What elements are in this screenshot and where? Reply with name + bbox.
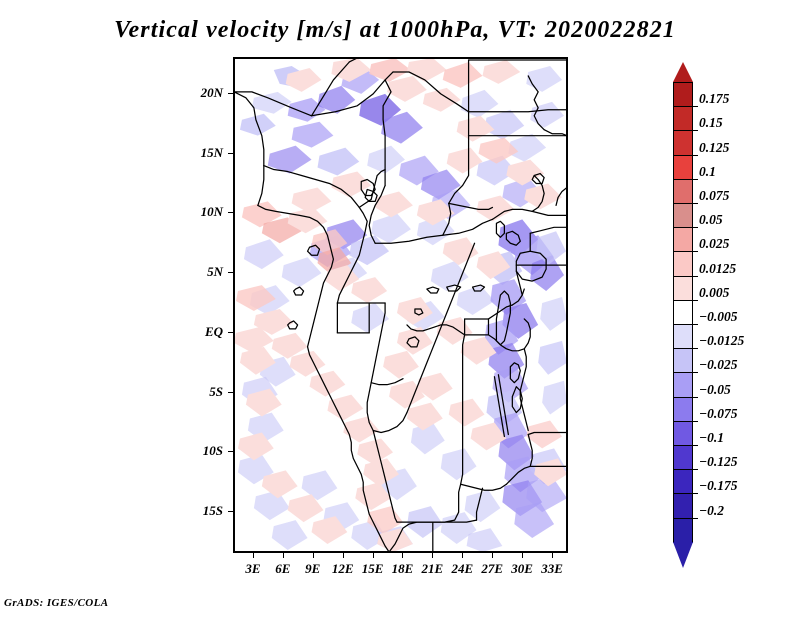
longitude-tick bbox=[373, 553, 374, 558]
latitude-label: 20N bbox=[161, 85, 223, 101]
longitude-label: 33E bbox=[532, 561, 572, 577]
longitude-tick bbox=[522, 553, 523, 558]
colorbar-segment bbox=[673, 445, 693, 471]
latitude-tick bbox=[228, 392, 233, 393]
colorbar-tick bbox=[693, 203, 698, 204]
colorbar-label: 0.15 bbox=[699, 115, 723, 131]
longitude-tick bbox=[552, 553, 553, 558]
colorbar-label: 0.175 bbox=[699, 91, 729, 107]
page-title: Vertical velocity [m/s] at 1000hPa, VT: … bbox=[0, 17, 790, 44]
colorbar-segment bbox=[673, 179, 693, 205]
colorbar-tick bbox=[693, 372, 698, 373]
colorbar-label: −0.125 bbox=[699, 454, 738, 470]
colorbar-label: −0.005 bbox=[699, 309, 738, 325]
colorbar-segment bbox=[673, 300, 693, 326]
colorbar-segment bbox=[673, 469, 693, 495]
colorbar-label: 0.125 bbox=[699, 140, 729, 156]
latitude-tick bbox=[228, 93, 233, 94]
latitude-tick bbox=[228, 153, 233, 154]
longitude-tick bbox=[432, 553, 433, 558]
colorbar-tick bbox=[693, 324, 698, 325]
colorbar-segment bbox=[673, 130, 693, 156]
colorbar-label: 0.1 bbox=[699, 164, 716, 180]
colorbar-label: 0.005 bbox=[699, 285, 729, 301]
colorbar-tick bbox=[693, 445, 698, 446]
latitude-tick bbox=[228, 272, 233, 273]
colorbar-segment bbox=[673, 276, 693, 302]
colorbar-segment bbox=[673, 155, 693, 181]
colorbar-label: −0.175 bbox=[699, 478, 738, 494]
longitude-tick bbox=[492, 553, 493, 558]
colorbar-segment bbox=[673, 518, 693, 544]
latitude-tick bbox=[228, 212, 233, 213]
latitude-label: 5S bbox=[161, 384, 223, 400]
grads-attribution: GrADS: IGES/COLA bbox=[4, 597, 109, 609]
colorbar-segment bbox=[673, 372, 693, 398]
longitude-tick bbox=[462, 553, 463, 558]
colorbar-segment bbox=[673, 493, 693, 519]
colorbar-tick bbox=[693, 421, 698, 422]
colorbar-tick bbox=[693, 348, 698, 349]
grads-plot-page: Vertical velocity [m/s] at 1000hPa, VT: … bbox=[0, 0, 800, 618]
latitude-label: 5N bbox=[161, 264, 223, 280]
colorbar-tick bbox=[693, 518, 698, 519]
colorbar-tick bbox=[693, 227, 698, 228]
colorbar-tick bbox=[693, 106, 698, 107]
latitude-tick bbox=[228, 332, 233, 333]
colorbar-tick bbox=[693, 276, 698, 277]
longitude-tick bbox=[343, 553, 344, 558]
colorbar[interactable]: 0.1750.150.1250.10.0750.050.0250.01250.0… bbox=[673, 62, 693, 562]
colorbar-label: 0.075 bbox=[699, 188, 729, 204]
colorbar-label: 0.05 bbox=[699, 212, 723, 228]
map-plot-area bbox=[233, 57, 568, 553]
colorbar-label: −0.1 bbox=[699, 430, 724, 446]
colorbar-label: 0.0125 bbox=[699, 261, 736, 277]
colorbar-tick bbox=[693, 469, 698, 470]
longitude-tick bbox=[313, 553, 314, 558]
colorbar-top-arrow bbox=[673, 62, 693, 82]
colorbar-segment bbox=[673, 106, 693, 132]
latitude-label: 15S bbox=[161, 503, 223, 519]
colorbar-tick bbox=[693, 397, 698, 398]
colorbar-bottom-arrow bbox=[673, 542, 693, 568]
colorbar-label: −0.025 bbox=[699, 357, 738, 373]
colorbar-label: 0.025 bbox=[699, 236, 729, 252]
longitude-tick bbox=[402, 553, 403, 558]
latitude-tick bbox=[228, 511, 233, 512]
colorbar-tick bbox=[693, 130, 698, 131]
map-plot-svg bbox=[234, 58, 567, 552]
colorbar-label: −0.075 bbox=[699, 406, 738, 422]
colorbar-segment bbox=[673, 251, 693, 277]
colorbar-tick bbox=[693, 300, 698, 301]
colorbar-label: −0.0125 bbox=[699, 333, 744, 349]
colorbar-label: −0.05 bbox=[699, 382, 731, 398]
latitude-label: EQ bbox=[161, 324, 223, 340]
colorbar-label: −0.2 bbox=[699, 503, 724, 519]
colorbar-segment bbox=[673, 203, 693, 229]
colorbar-segment bbox=[673, 82, 693, 108]
colorbar-segment bbox=[673, 421, 693, 447]
latitude-tick bbox=[228, 451, 233, 452]
latitude-label: 15N bbox=[161, 145, 223, 161]
colorbar-tick bbox=[693, 493, 698, 494]
colorbar-segment bbox=[673, 397, 693, 423]
colorbar-segment bbox=[673, 348, 693, 374]
colorbar-segment bbox=[673, 227, 693, 253]
colorbar-tick bbox=[693, 251, 698, 252]
longitude-tick bbox=[283, 553, 284, 558]
colorbar-tick bbox=[693, 155, 698, 156]
longitude-tick bbox=[253, 553, 254, 558]
latitude-label: 10N bbox=[161, 204, 223, 220]
colorbar-tick bbox=[693, 179, 698, 180]
colorbar-segment bbox=[673, 324, 693, 350]
latitude-label: 10S bbox=[161, 443, 223, 459]
